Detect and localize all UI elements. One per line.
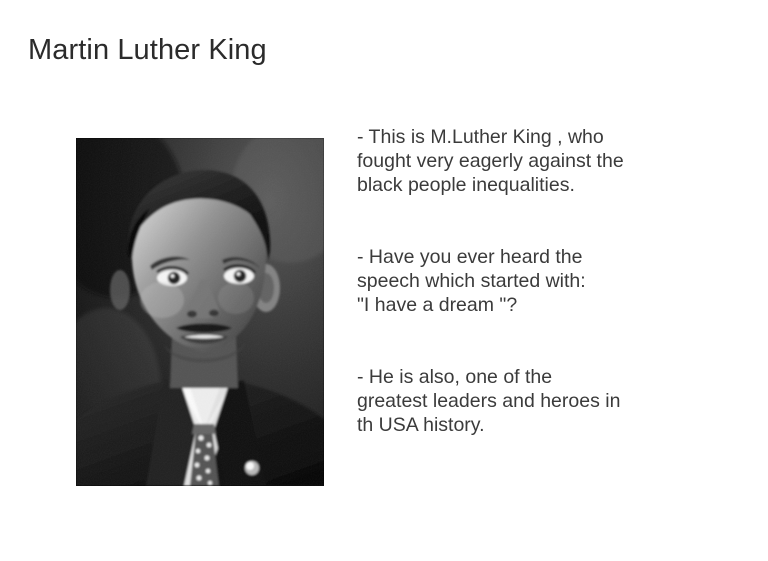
portrait-illustration	[76, 138, 324, 486]
paragraph-line: - This is M.Luther King , who	[357, 125, 677, 149]
paragraph-line: - Have you ever heard the	[357, 245, 677, 269]
portrait-photo	[76, 138, 324, 486]
body-paragraph-2: - Have you ever heard the speech which s…	[357, 245, 677, 317]
paragraph-line: speech which started with:	[357, 269, 677, 293]
paragraph-line: th USA history.	[357, 413, 677, 437]
slide-body-text: - This is M.Luther King , who fought ver…	[357, 125, 677, 437]
body-paragraph-3: - He is also, one of the greatest leader…	[357, 365, 677, 437]
paragraph-line: "I have a dream "?	[357, 293, 677, 317]
body-paragraph-1: - This is M.Luther King , who fought ver…	[357, 125, 677, 197]
paragraph-line: fought very eagerly against the	[357, 149, 677, 173]
paragraph-line: black people inequalities.	[357, 173, 677, 197]
presentation-slide: Martin Luther King	[0, 0, 768, 561]
page-title: Martin Luther King	[28, 33, 267, 68]
paragraph-line: - He is also, one of the	[357, 365, 677, 389]
paragraph-line: greatest leaders and heroes in	[357, 389, 677, 413]
